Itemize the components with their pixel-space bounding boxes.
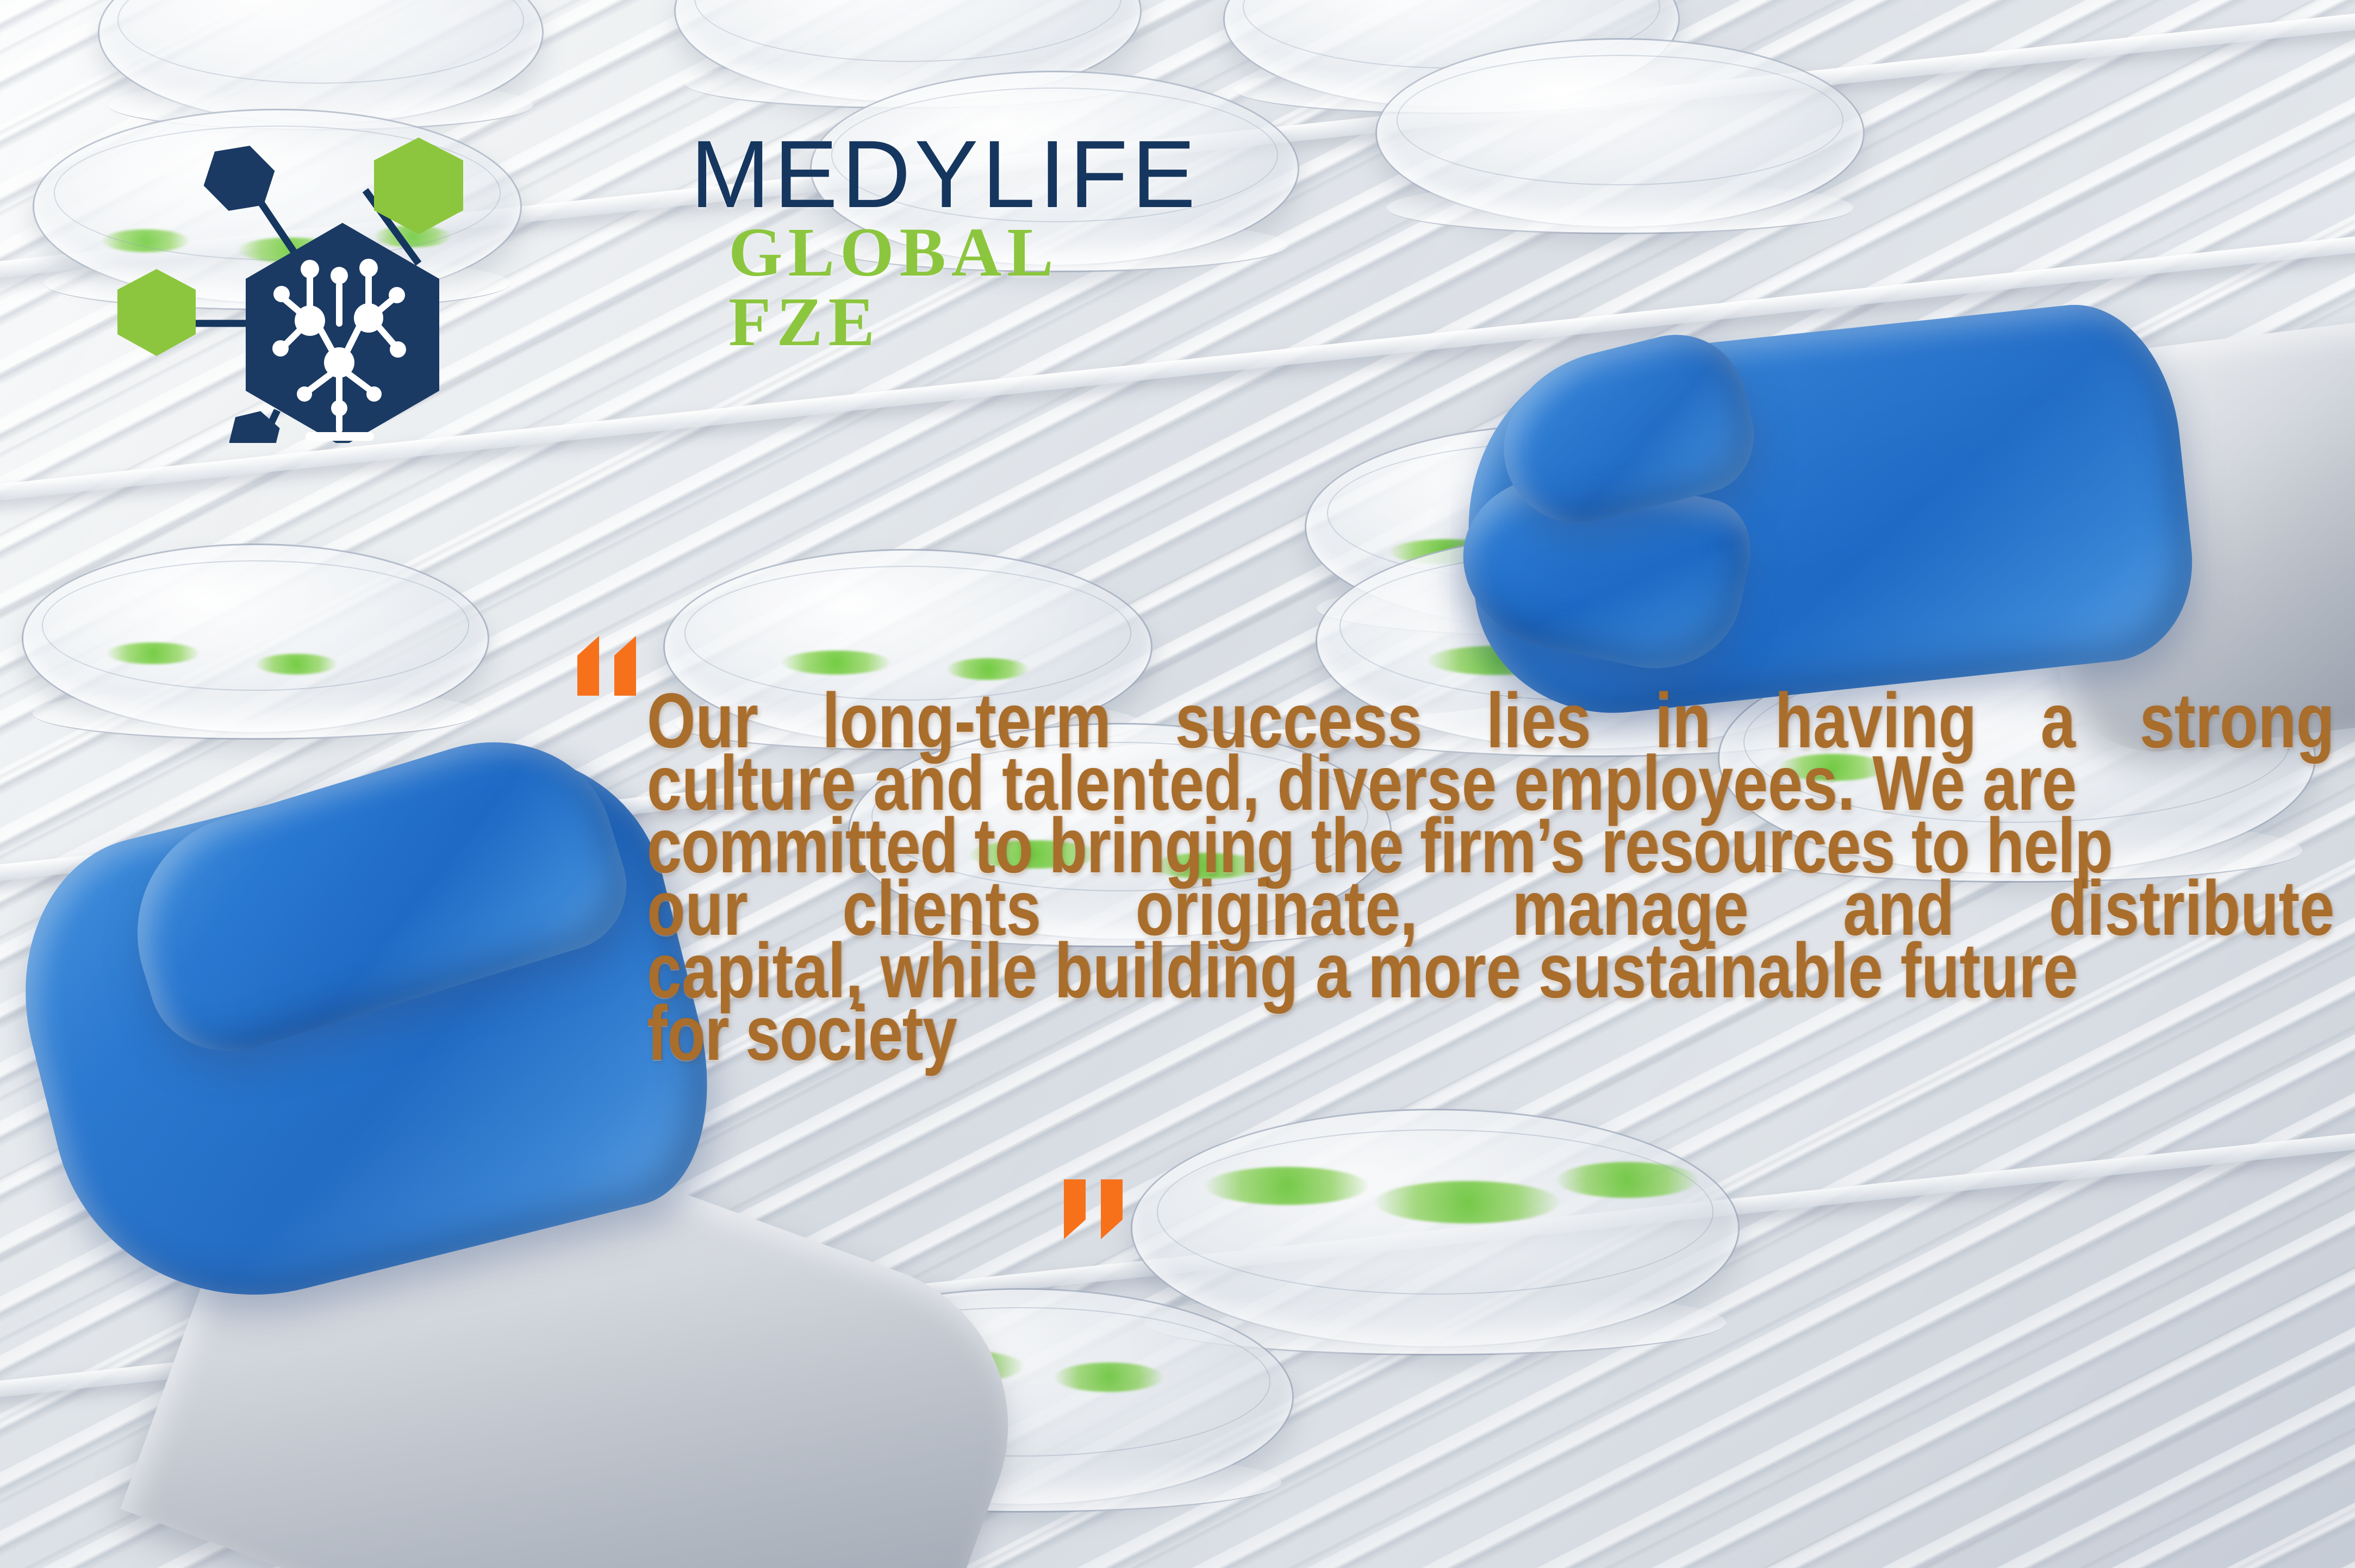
quote-line-5: capital, while building a more sustainab…	[647, 947, 1999, 996]
quote-word: manage	[1512, 884, 1749, 933]
quote-line-4: our clients originate, manage and distri…	[647, 884, 2334, 933]
quote-word: a	[2041, 697, 2076, 746]
quote-word: clients	[842, 884, 1041, 933]
quote-word: our	[647, 884, 747, 933]
quote-line-6: for society	[647, 1009, 1999, 1058]
brand-logo[interactable]: MEDYLIFE GLOBAL FZE	[114, 106, 1180, 476]
quote-word: lies	[1486, 697, 1591, 746]
hexagon-green-left-icon	[117, 269, 196, 356]
promo-banner: MEDYLIFE GLOBAL FZE Our long-term succes…	[0, 0, 2355, 1568]
quote-line-2: culture and talented, diverse employees.…	[647, 759, 1999, 808]
quote-word: and	[1843, 884, 1954, 933]
quote-line-3: committed to bringing the firm’s resourc…	[647, 822, 1999, 871]
petri-dish	[22, 544, 489, 734]
brand-sub-wordmark: GLOBAL FZE	[728, 217, 1180, 357]
quote-word: distribute	[2049, 884, 2334, 933]
petri-dish	[1375, 38, 1865, 228]
quote-word: long-term	[823, 697, 1111, 746]
brand-wordmark: MEDYLIFE	[690, 127, 1199, 222]
quote-word: success	[1175, 697, 1422, 746]
quote-word: having	[1775, 697, 1977, 746]
quote-line-1: Our long-term success lies in having a s…	[647, 697, 2334, 746]
logo-mark-icon	[114, 106, 690, 443]
quote-word: strong	[2140, 697, 2334, 746]
quote-word: in	[1655, 697, 1710, 746]
close-quote-mark-icon	[1052, 1179, 1139, 1245]
quote-text: Our long-term success lies in having a s…	[647, 697, 2338, 1072]
open-quote-mark-icon	[565, 636, 652, 701]
quote-word: originate,	[1136, 884, 1418, 933]
petri-dish	[1131, 1109, 1740, 1348]
quote-word: Our	[647, 697, 758, 746]
